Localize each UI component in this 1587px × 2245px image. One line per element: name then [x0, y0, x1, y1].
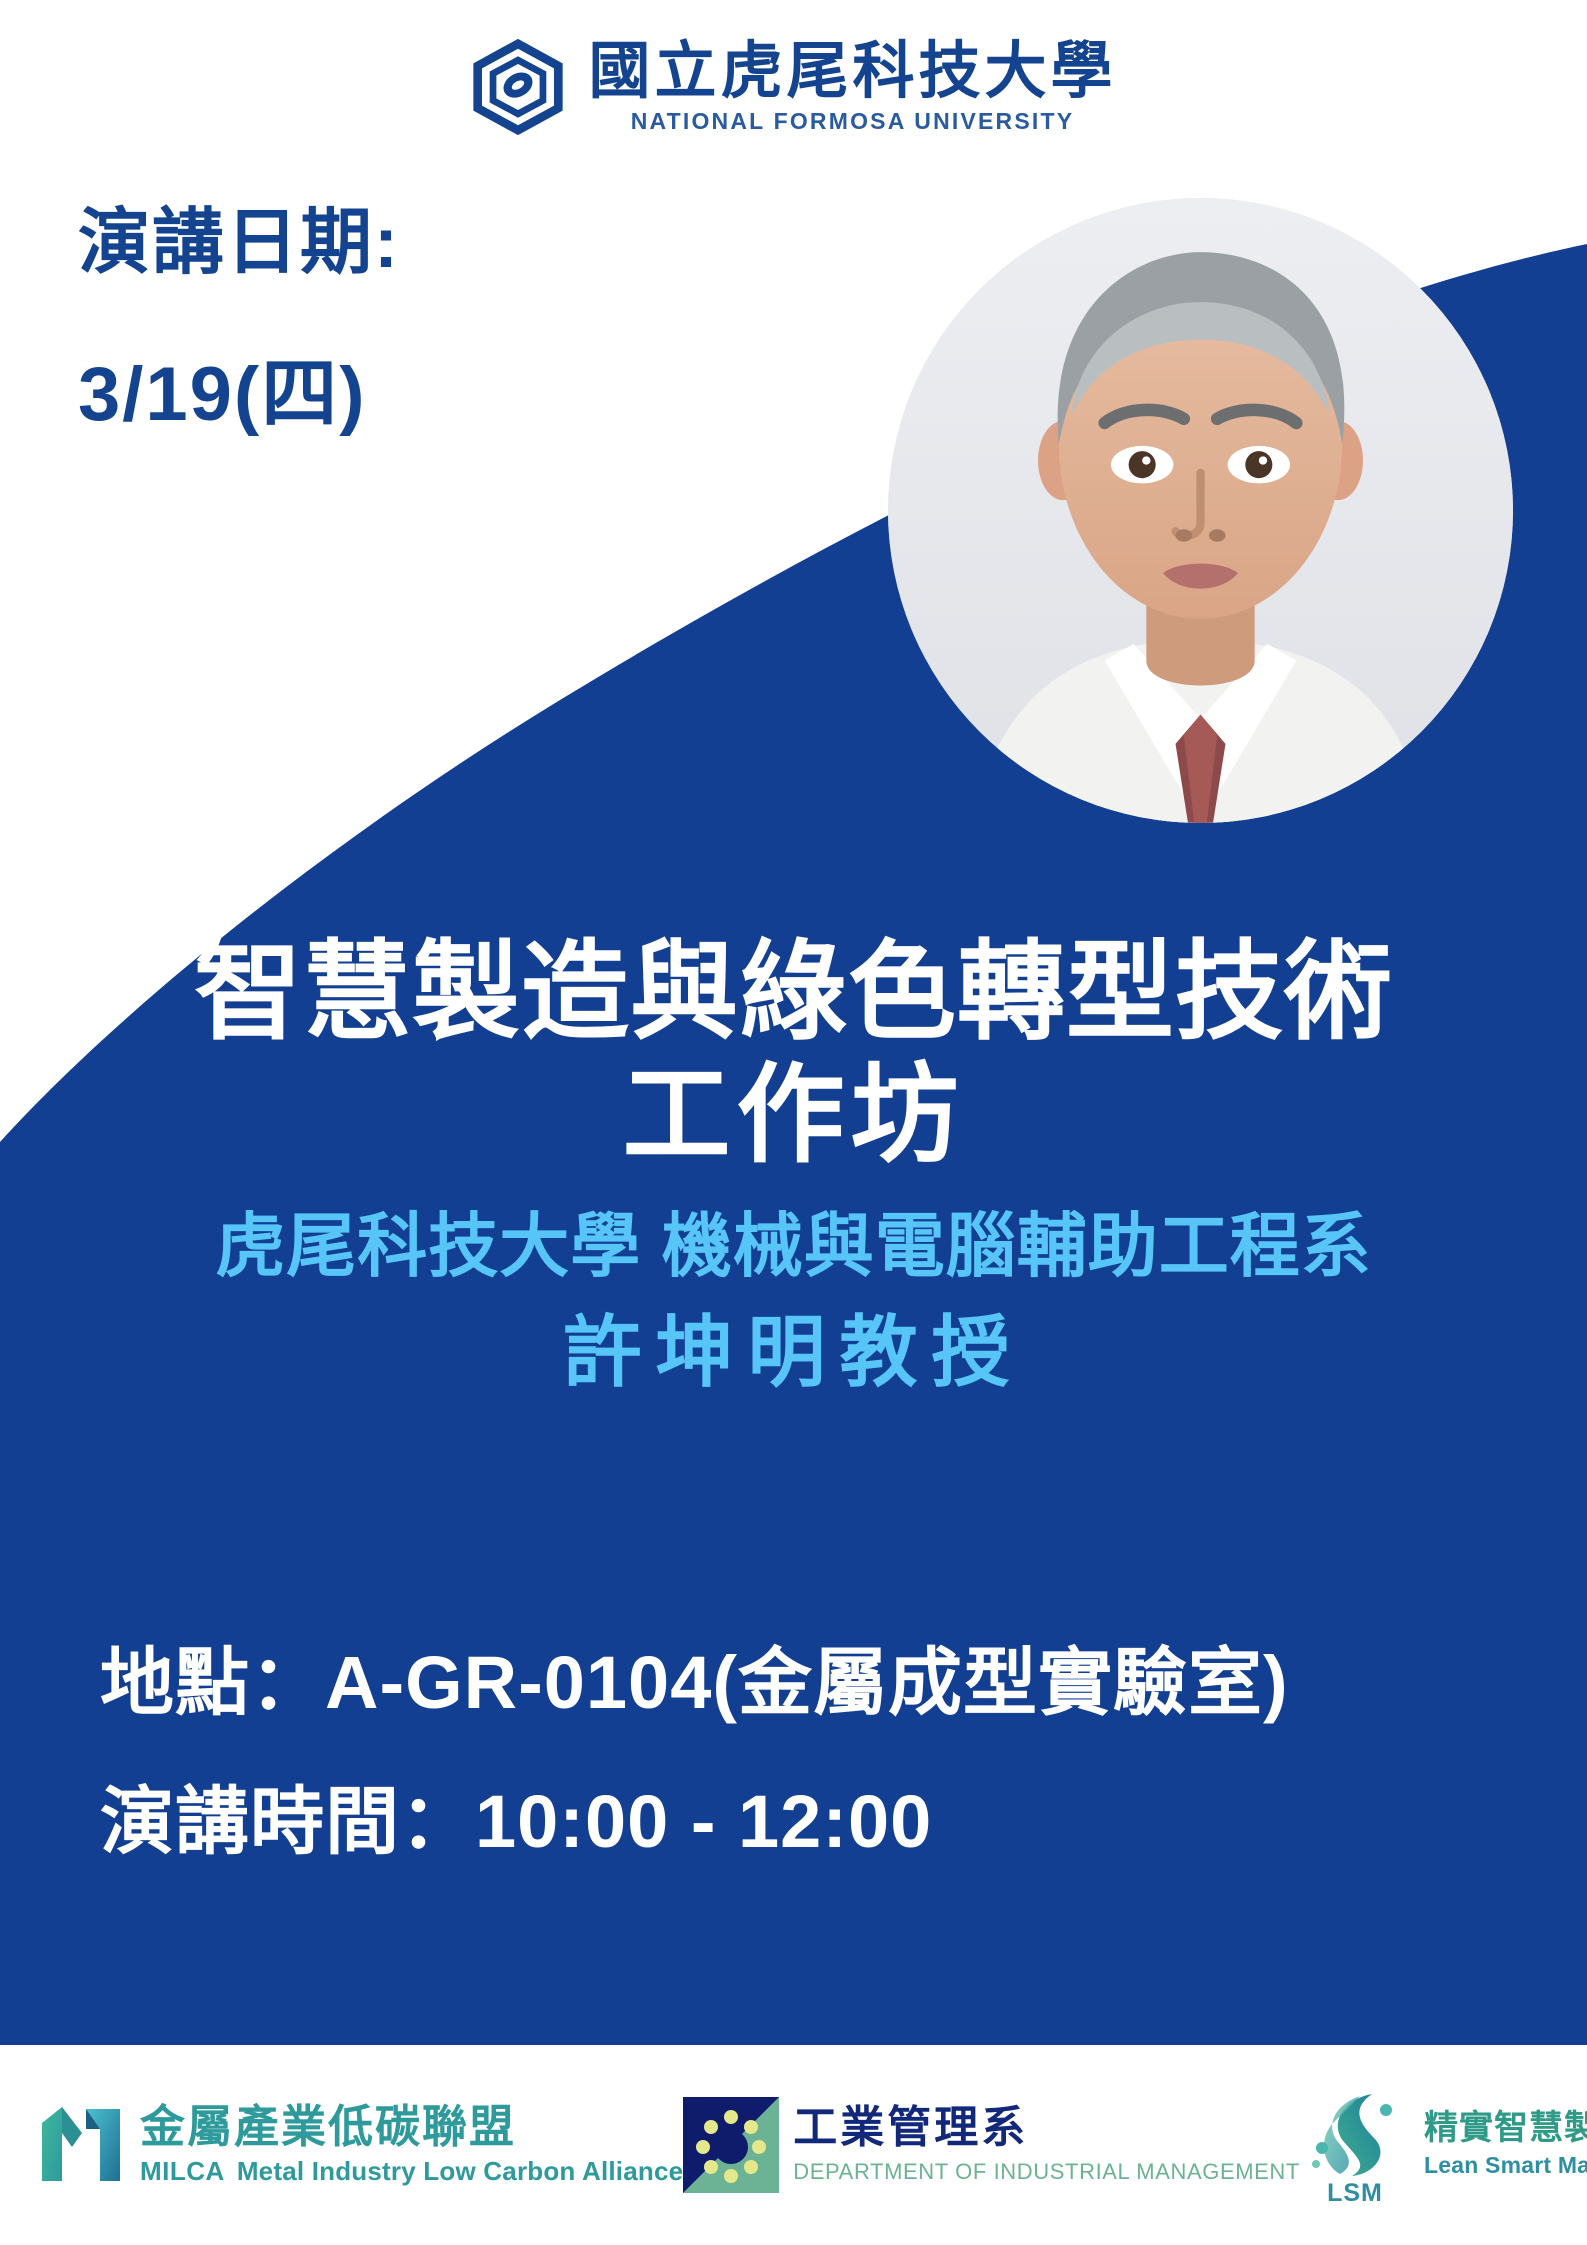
milca-name-cn: 金屬產業低碳聯盟 — [140, 2104, 516, 2149]
footer-logo-lsm: LSM 精實智慧製造實驗室 Lean Smart Manufacturing L… — [1300, 2086, 1587, 2204]
im-name-cn: 工業管理系 — [793, 2105, 1300, 2151]
lsm-swirl-mark-icon — [1300, 2086, 1410, 2182]
hexagon-emblem-icon — [470, 39, 566, 135]
university-logo: 國立虎尾科技大學 NATIONAL FORMOSA UNIVERSITY — [0, 38, 1587, 135]
university-name-cn: 國立虎尾科技大學 — [588, 38, 1116, 103]
poster-canvas: 國立虎尾科技大學 NATIONAL FORMOSA UNIVERSITY 演講日… — [0, 0, 1587, 2245]
milca-name-en: Metal Industry Low Carbon Alliance — [237, 2156, 683, 2187]
footer-logo-industrial-management: 工業管理系 DEPARTMENT OF INDUSTRIAL MANAGEMEN… — [683, 2097, 1300, 2193]
footer-logo-milca: 金屬產業低碳聯盟 MILCA Metal Industry Low Carbon… — [36, 2103, 683, 2187]
university-name-en: NATIONAL FORMOSA UNIVERSITY — [631, 108, 1075, 135]
lecture-date-block: 演講日期: 3/19(四) — [78, 195, 400, 447]
milca-m-mark-icon — [36, 2103, 126, 2187]
speaker-name: 許坤明教授 — [60, 1302, 1527, 1403]
lsm-abbr: LSM — [1300, 2179, 1410, 2208]
workshop-title-line1: 智慧製造與綠色轉型技術 — [60, 930, 1527, 1053]
im-name-en: DEPARTMENT OF INDUSTRIAL MANAGEMENT — [793, 2159, 1300, 2185]
workshop-title-line2: 工作坊 — [60, 1053, 1527, 1176]
event-location: 地點：A-GR-0104(金屬成型實驗室) — [100, 1640, 1289, 1725]
milca-abbr: MILCA — [140, 2156, 225, 2187]
lsm-name-en: Lean Smart Manufacturing Lab — [1424, 2152, 1587, 2179]
date-label: 演講日期: — [78, 195, 400, 292]
sponsor-footer: 金屬產業低碳聯盟 MILCA Metal Industry Low Carbon… — [0, 2045, 1587, 2245]
main-content: 智慧製造與綠色轉型技術 工作坊 虎尾科技大學 機械與電腦輔助工程系 許坤明教授 — [0, 930, 1587, 1403]
lsm-name-cn: 精實智慧製造實驗室 — [1424, 2111, 1587, 2147]
speaker-department: 虎尾科技大學 機械與電腦輔助工程系 — [60, 1202, 1527, 1292]
date-value: 3/19(四) — [78, 344, 400, 447]
event-details: 地點：A-GR-0104(金屬成型實驗室) 演講時間：10:00 - 12:00 — [100, 1640, 1289, 1864]
speaker-portrait-photo — [888, 198, 1513, 823]
portrait-illustration — [888, 198, 1513, 823]
im-square-mark-icon — [683, 2097, 779, 2193]
event-time: 演講時間：10:00 - 12:00 — [100, 1779, 1289, 1864]
